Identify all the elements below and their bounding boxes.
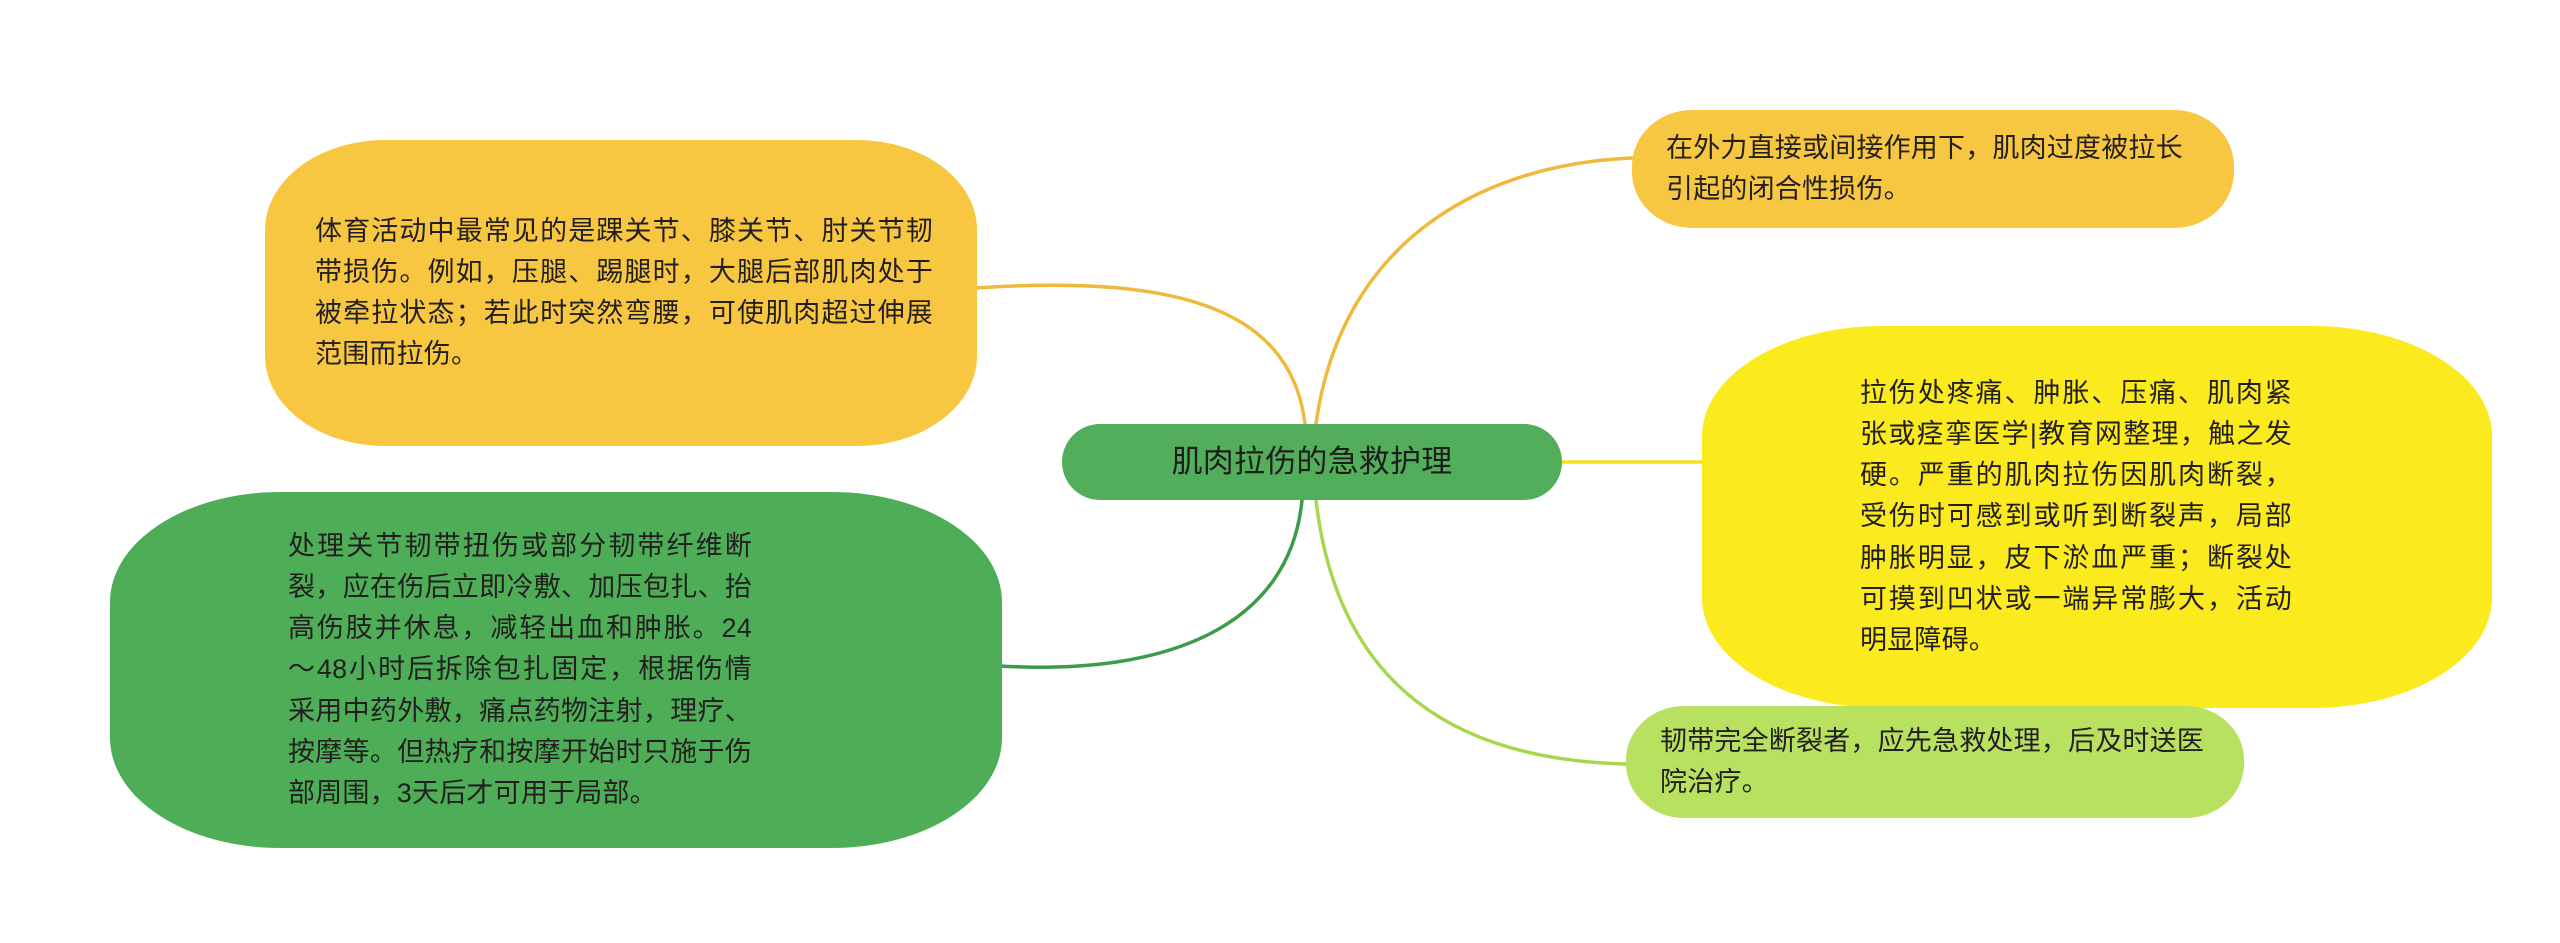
edge-root-to-definition	[1316, 158, 1632, 424]
branch-text-treatment: 处理关节韧带扭伤或部分韧带纤维断裂，应在伤后立即冷敷、加压包扎、抬高伤肢并休息，…	[288, 526, 752, 813]
branch-text-definition: 在外力直接或间接作用下，肌肉过度被拉长引起的闭合性损伤。	[1666, 128, 2208, 210]
branch-node-complete-rupture-care[interactable]: 韧带完全断裂者，应先急救处理，后及时送医院治疗。	[1626, 706, 2244, 818]
branch-text-rupture: 韧带完全断裂者，应先急救处理，后及时送医院治疗。	[1660, 721, 2218, 803]
mindmap-canvas: 体育活动中最常见的是踝关节、膝关节、肘关节韧带损伤。例如，压腿、踢腿时，大腿后部…	[0, 0, 2560, 943]
branch-node-treatment-measures[interactable]: 处理关节韧带扭伤或部分韧带纤维断裂，应在伤后立即冷敷、加压包扎、抬高伤肢并休息，…	[110, 492, 1002, 848]
branch-text-sports: 体育活动中最常见的是踝关节、膝关节、肘关节韧带损伤。例如，压腿、踢腿时，大腿后部…	[315, 211, 933, 375]
branch-node-injury-symptoms[interactable]: 拉伤处疼痛、肿胀、压痛、肌肉紧张或痉挛医学|教育网整理，触之发硬。严重的肌肉拉伤…	[1702, 326, 2492, 708]
root-node[interactable]: 肌肉拉伤的急救护理	[1062, 424, 1562, 500]
branch-node-sports-injury-cause[interactable]: 体育活动中最常见的是踝关节、膝关节、肘关节韧带损伤。例如，压腿、踢腿时，大腿后部…	[265, 140, 977, 446]
edge-root-to-sports	[975, 285, 1305, 424]
edge-root-to-rupture	[1316, 500, 1626, 764]
branch-text-symptoms: 拉伤处疼痛、肿胀、压痛、肌肉紧张或痉挛医学|教育网整理，触之发硬。严重的肌肉拉伤…	[1860, 373, 2292, 660]
root-node-label: 肌肉拉伤的急救护理	[1172, 438, 1453, 485]
branch-node-injury-definition[interactable]: 在外力直接或间接作用下，肌肉过度被拉长引起的闭合性损伤。	[1632, 110, 2234, 228]
edge-root-to-treatment	[1000, 500, 1302, 667]
